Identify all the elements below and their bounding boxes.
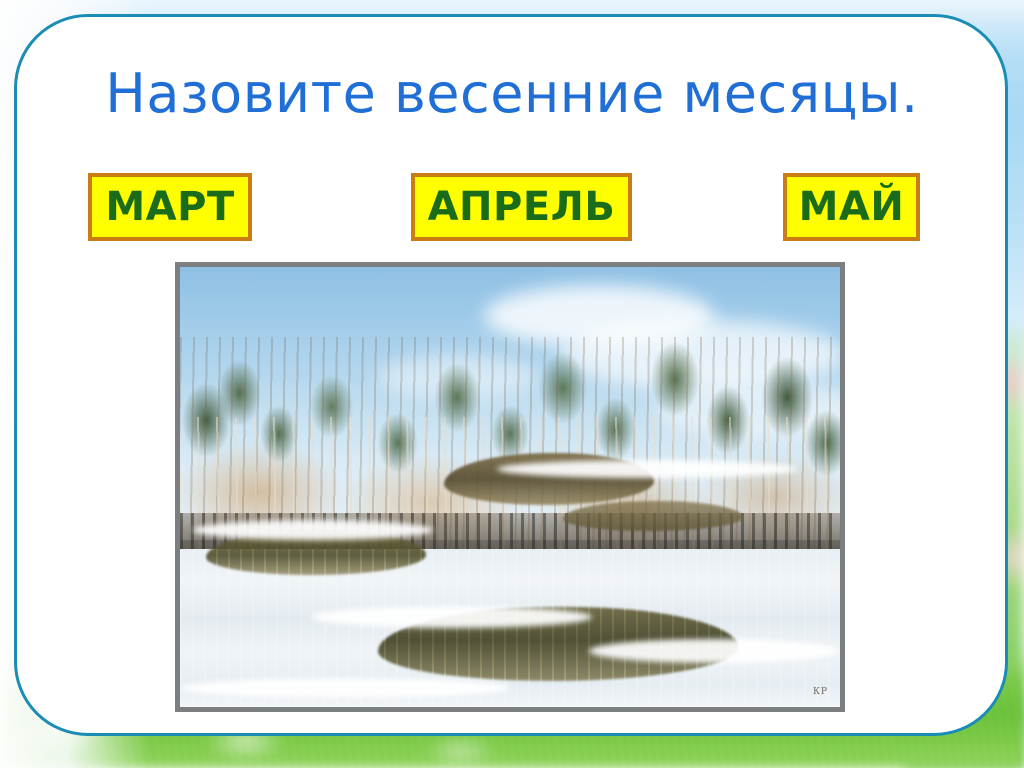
month-card-aprel[interactable]: АПРЕЛЬ <box>411 173 632 241</box>
painting-water-pool <box>563 501 743 531</box>
painting-frame: КР <box>175 262 845 712</box>
month-label-aprel: АПРЕЛЬ <box>428 187 616 227</box>
page-title: Назовите весенние месяцы. <box>0 62 1024 125</box>
painting-signature: КР <box>813 687 828 697</box>
month-label-may: МАЙ <box>799 187 905 227</box>
month-label-mart: МАРТ <box>105 187 234 227</box>
slide-root: Назовите весенние месяцы. МАРТ АПРЕЛЬ МА… <box>0 0 1024 768</box>
spring-landscape-painting: КР <box>180 267 840 707</box>
painting-snow-ridge <box>312 606 592 628</box>
painting-snow-ridge <box>589 639 839 663</box>
month-card-may[interactable]: МАЙ <box>783 173 920 241</box>
month-card-mart[interactable]: МАРТ <box>88 173 252 241</box>
painting-snow-ridge <box>193 520 433 540</box>
month-list: МАРТ АПРЕЛЬ МАЙ <box>14 173 1008 241</box>
